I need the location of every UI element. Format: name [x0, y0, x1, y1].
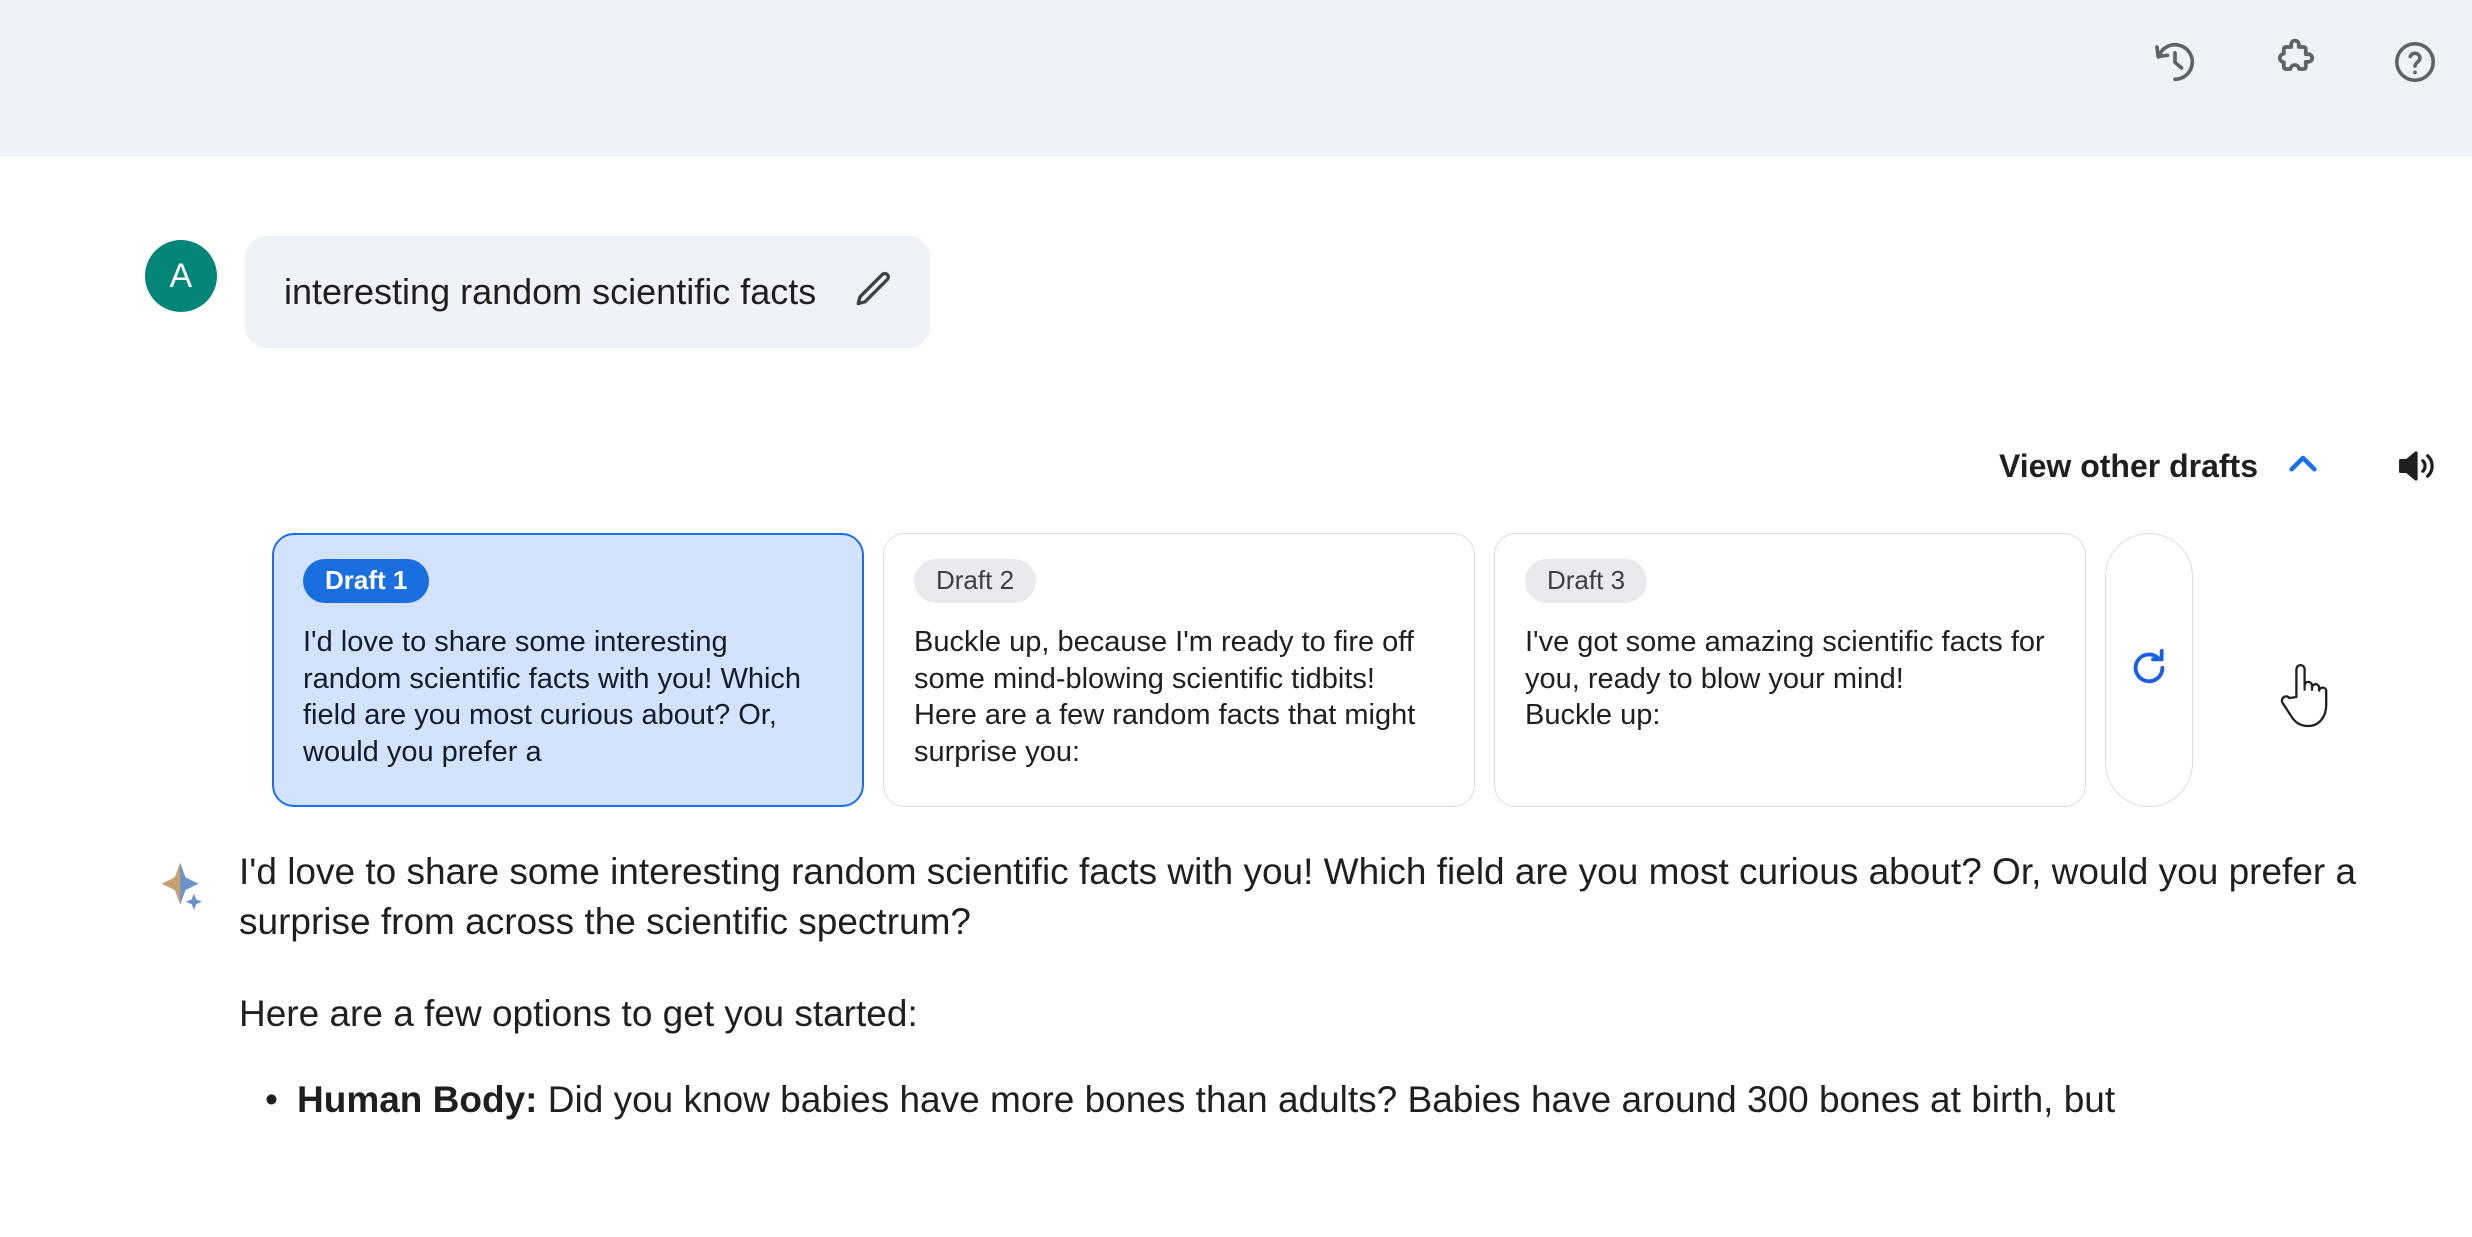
volume-up-icon[interactable]	[2384, 434, 2448, 498]
response-bullet-list: Human Body: Did you know babies have mor…	[239, 1075, 2455, 1125]
refresh-icon	[2127, 646, 2171, 695]
history-icon[interactable]	[2144, 31, 2206, 93]
draft-card-1[interactable]: Draft 1 I'd love to share some interesti…	[272, 533, 864, 807]
drafts-strip: Draft 1 I'd love to share some interesti…	[272, 533, 2193, 807]
draft-badge: Draft 2	[914, 559, 1036, 603]
extensions-icon[interactable]	[2264, 31, 2326, 93]
prompt-bubble: interesting random scientific facts	[245, 236, 930, 348]
drafts-header: View other drafts	[0, 434, 2472, 498]
response-paragraph-1: I'd love to share some interesting rando…	[239, 847, 2455, 948]
draft-card-2[interactable]: Draft 2 Buckle up, because I'm ready to …	[883, 533, 1475, 807]
help-icon[interactable]	[2384, 31, 2446, 93]
draft-preview-text: I've got some amazing scientific facts f…	[1525, 624, 2055, 734]
app-header	[0, 0, 2472, 157]
draft-badge: Draft 3	[1525, 559, 1647, 603]
model-response-row: I'd love to share some interesting rando…	[155, 847, 2455, 1125]
regenerate-drafts-button[interactable]	[2105, 533, 2193, 807]
list-item: Human Body: Did you know babies have mor…	[297, 1075, 2455, 1125]
draft-preview-text: Buckle up, because I'm ready to fire off…	[914, 624, 1444, 770]
user-prompt-row: A interesting random scientific facts	[145, 236, 930, 348]
conversation-area: A interesting random scientific facts Vi…	[0, 157, 2472, 1237]
view-other-drafts-button[interactable]: View other drafts	[1991, 437, 2332, 496]
list-item-title: Human Body:	[297, 1079, 538, 1120]
pencil-icon[interactable]	[850, 268, 894, 317]
response-paragraph-2: Here are a few options to get you starte…	[239, 989, 2455, 1039]
gemini-sparkle-icon	[155, 859, 219, 926]
model-response-body: I'd love to share some interesting rando…	[239, 847, 2455, 1125]
chevron-up-icon[interactable]	[2282, 443, 2324, 490]
draft-badge: Draft 1	[303, 559, 429, 603]
draft-preview-text: I'd love to share some interesting rando…	[303, 624, 833, 770]
header-actions	[2144, 31, 2446, 93]
list-item-body: Did you know babies have more bones than…	[538, 1079, 2116, 1120]
view-other-drafts-label: View other drafts	[1999, 448, 2258, 485]
draft-card-3[interactable]: Draft 3 I've got some amazing scientific…	[1494, 533, 2086, 807]
avatar: A	[145, 240, 217, 312]
prompt-text: interesting random scientific facts	[284, 269, 816, 316]
